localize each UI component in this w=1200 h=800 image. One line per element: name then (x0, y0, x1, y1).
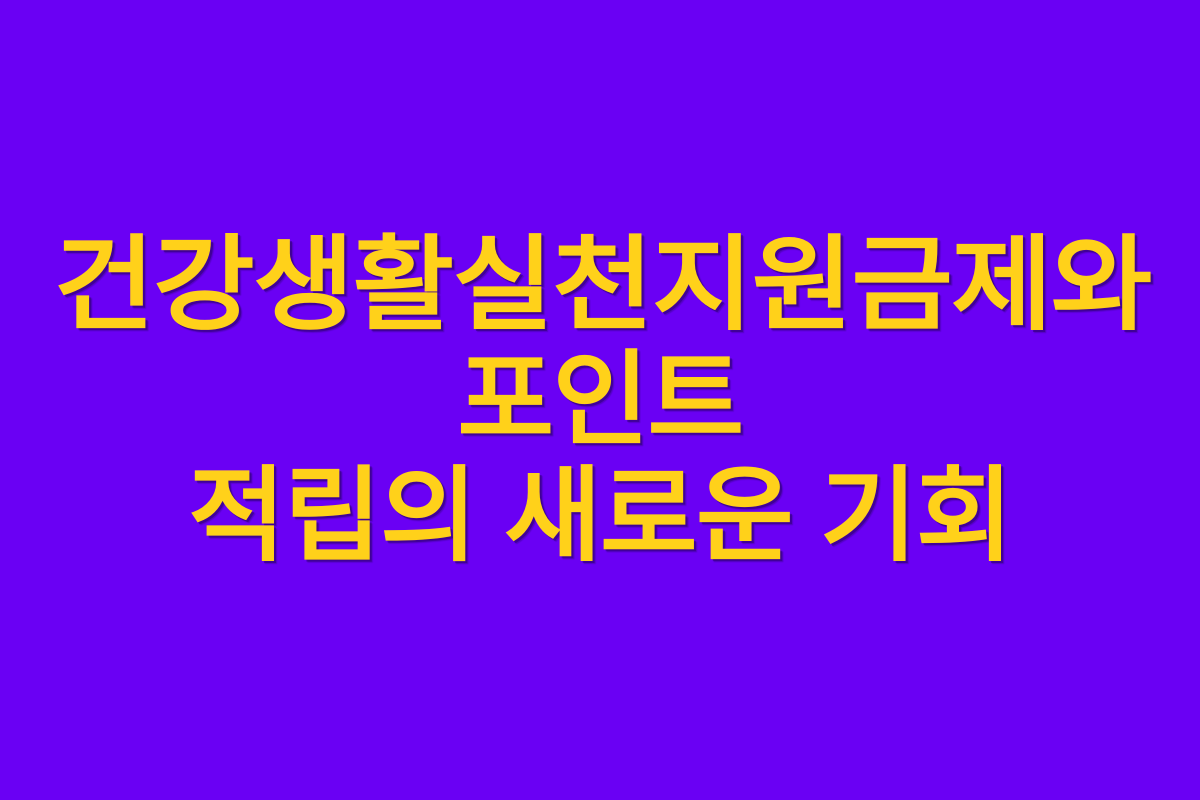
headline-line-1: 건강생활실천지원금제와 (0, 227, 1200, 342)
headline-line-2: 포인트 (0, 342, 1200, 457)
thumbnail-banner: 건강생활실천지원금제와 포인트 적립의 새로운 기회 (0, 0, 1200, 800)
headline-line-3: 적립의 새로운 기회 (0, 458, 1200, 573)
headline-block: 건강생활실천지원금제와 포인트 적립의 새로운 기회 (0, 227, 1200, 573)
